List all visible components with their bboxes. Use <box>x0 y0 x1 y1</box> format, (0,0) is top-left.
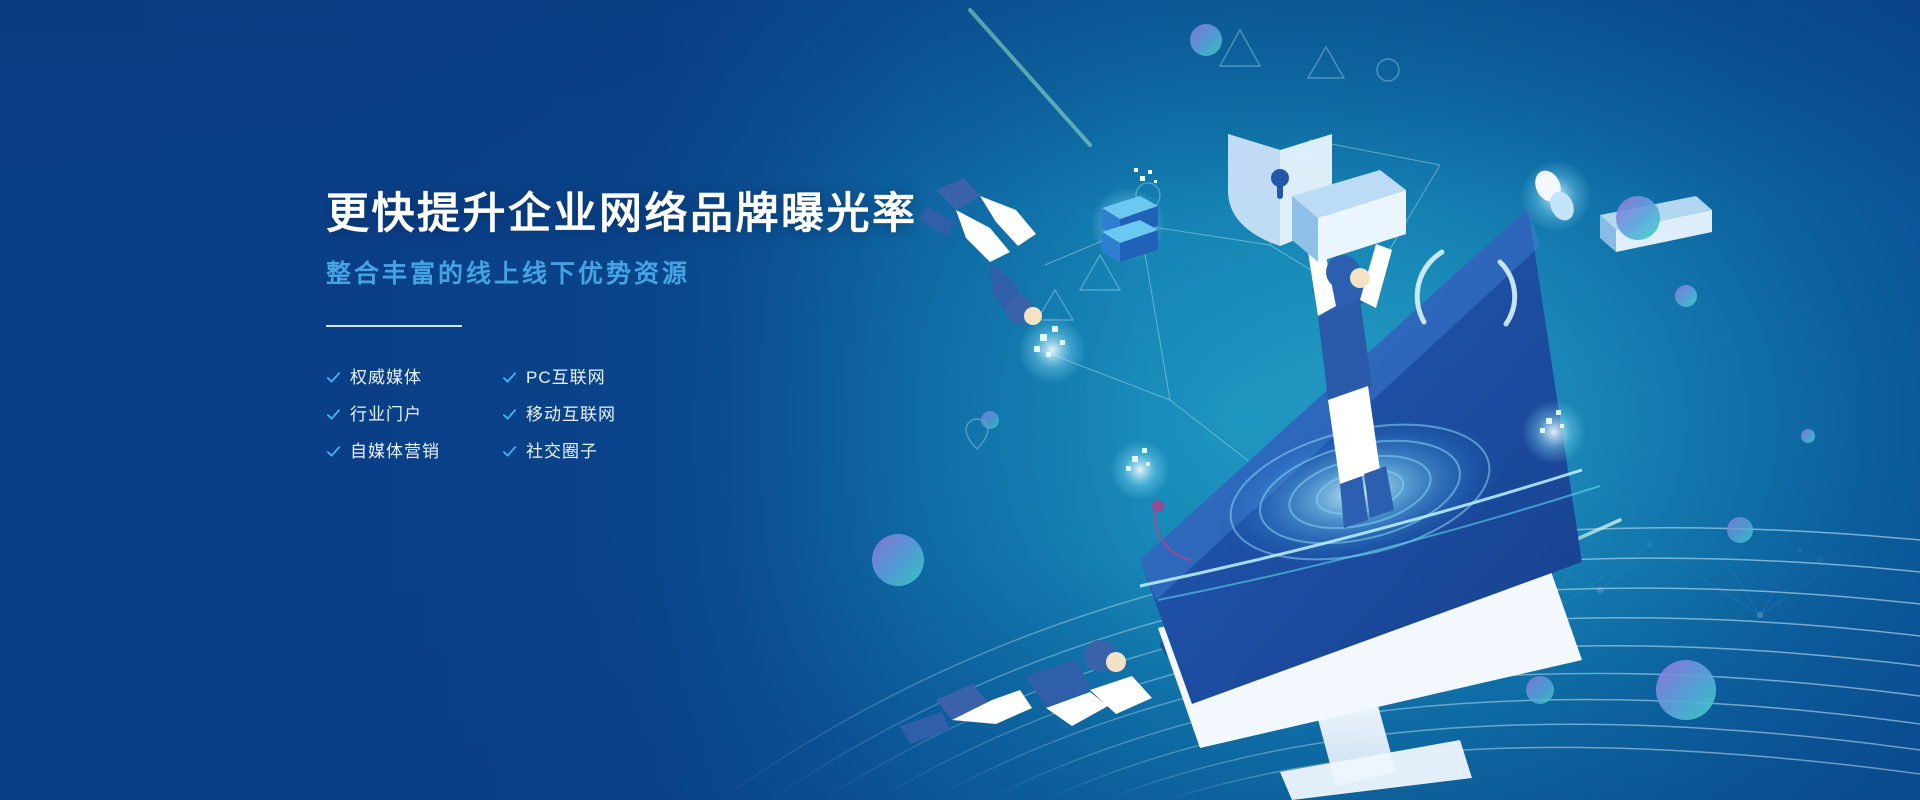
feature-item: PC互联网 <box>502 369 966 386</box>
feature-label: 自媒体营销 <box>350 443 440 460</box>
check-icon <box>502 370 517 385</box>
hero-content: 更快提升企业网络品牌曝光率 整合丰富的线上线下优势资源 权威媒体 PC互联网 <box>326 188 966 460</box>
check-icon <box>502 407 517 422</box>
feature-label: PC互联网 <box>526 369 606 386</box>
feature-label: 行业门户 <box>350 406 422 423</box>
feature-item: 社交圈子 <box>502 443 966 460</box>
check-icon <box>326 444 341 459</box>
check-icon <box>502 444 517 459</box>
page-subtitle: 整合丰富的线上线下优势资源 <box>326 258 966 291</box>
feature-label: 移动互联网 <box>526 406 616 423</box>
feature-item: 权威媒体 <box>326 369 502 386</box>
feature-item: 自媒体营销 <box>326 443 502 460</box>
feature-item: 行业门户 <box>326 406 502 423</box>
feature-item: 移动互联网 <box>502 406 966 423</box>
feature-label: 社交圈子 <box>526 443 598 460</box>
title-divider <box>326 325 462 327</box>
page-title: 更快提升企业网络品牌曝光率 <box>326 188 966 242</box>
hero-banner: 更快提升企业网络品牌曝光率 整合丰富的线上线下优势资源 权威媒体 PC互联网 <box>0 0 1920 800</box>
check-icon <box>326 370 341 385</box>
feature-label: 权威媒体 <box>350 369 422 386</box>
check-icon <box>326 407 341 422</box>
feature-list: 权威媒体 PC互联网 行业门户 移动互联网 <box>326 369 966 460</box>
